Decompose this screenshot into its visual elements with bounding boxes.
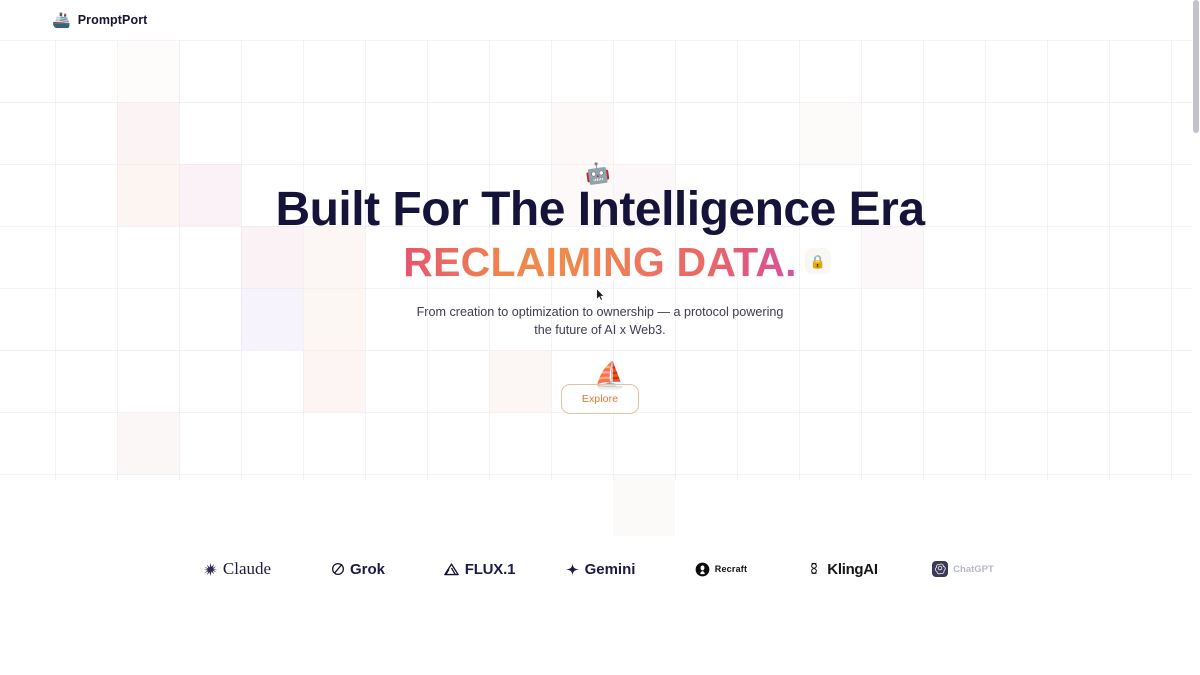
gemini-sparkle-icon bbox=[565, 562, 580, 577]
logo-label-klingai: KlingAI bbox=[827, 561, 877, 578]
logo-label-flux: FLUX.1 bbox=[465, 561, 515, 578]
hero-section: Built For The Intelligence Era 🤖 RECLAIM… bbox=[0, 0, 1200, 540]
logo-item-grok[interactable]: Grok bbox=[298, 561, 419, 578]
top-navbar: 🚢 PromptPort bbox=[0, 0, 1200, 40]
headline-accent-text: RECLAIMING DATA. bbox=[403, 239, 796, 285]
logo-item-klingai[interactable]: KlingAI bbox=[782, 561, 903, 578]
logo-label-recraft: Recraft bbox=[715, 564, 747, 574]
logo-item-gemini[interactable]: Gemini bbox=[540, 561, 661, 578]
robot-icon: 🤖 bbox=[584, 162, 611, 185]
claude-starburst-icon bbox=[203, 562, 218, 577]
logo-label-grok: Grok bbox=[350, 561, 385, 578]
page-scrollbar[interactable] bbox=[1192, 0, 1200, 675]
lock-icon: 🔒 bbox=[805, 248, 831, 274]
explore-button[interactable]: Explore bbox=[561, 384, 639, 414]
logo-item-claude[interactable]: Claude bbox=[177, 559, 298, 579]
logo-label-claude: Claude bbox=[223, 559, 271, 579]
hero-subtitle: From creation to optimization to ownersh… bbox=[410, 303, 790, 340]
headline-accent: RECLAIMING DATA. 🔒 bbox=[403, 242, 796, 283]
openai-knot-icon bbox=[932, 561, 948, 577]
brand-name-label: PromptPort bbox=[78, 13, 148, 27]
brand-logo[interactable]: 🚢 PromptPort bbox=[52, 13, 147, 28]
partner-logo-strip: Claude Grok FLUX.1 bbox=[0, 548, 1200, 590]
ship-icon: 🚢 bbox=[52, 13, 71, 28]
page-viewport: 🚢 PromptPort Built For The Intelligence … bbox=[0, 0, 1200, 675]
scrollbar-thumb[interactable] bbox=[1193, 0, 1199, 133]
page-title: Built For The Intelligence Era 🤖 bbox=[275, 186, 924, 234]
kling-loops-icon bbox=[806, 561, 822, 577]
cta-group: ⛵ Explore bbox=[561, 362, 639, 414]
logo-item-flux[interactable]: FLUX.1 bbox=[419, 561, 540, 578]
logo-item-chatgpt[interactable]: ChatGPT bbox=[903, 561, 1024, 577]
headline-text: Built For The Intelligence Era bbox=[275, 183, 924, 236]
logo-label-chatgpt: ChatGPT bbox=[953, 564, 994, 575]
flux-triangle-icon bbox=[443, 562, 460, 576]
recraft-circle-icon bbox=[695, 562, 710, 577]
logo-item-recraft[interactable]: Recraft bbox=[661, 562, 782, 577]
grok-slash-circle-icon bbox=[331, 562, 345, 576]
logo-label-gemini: Gemini bbox=[585, 561, 636, 578]
